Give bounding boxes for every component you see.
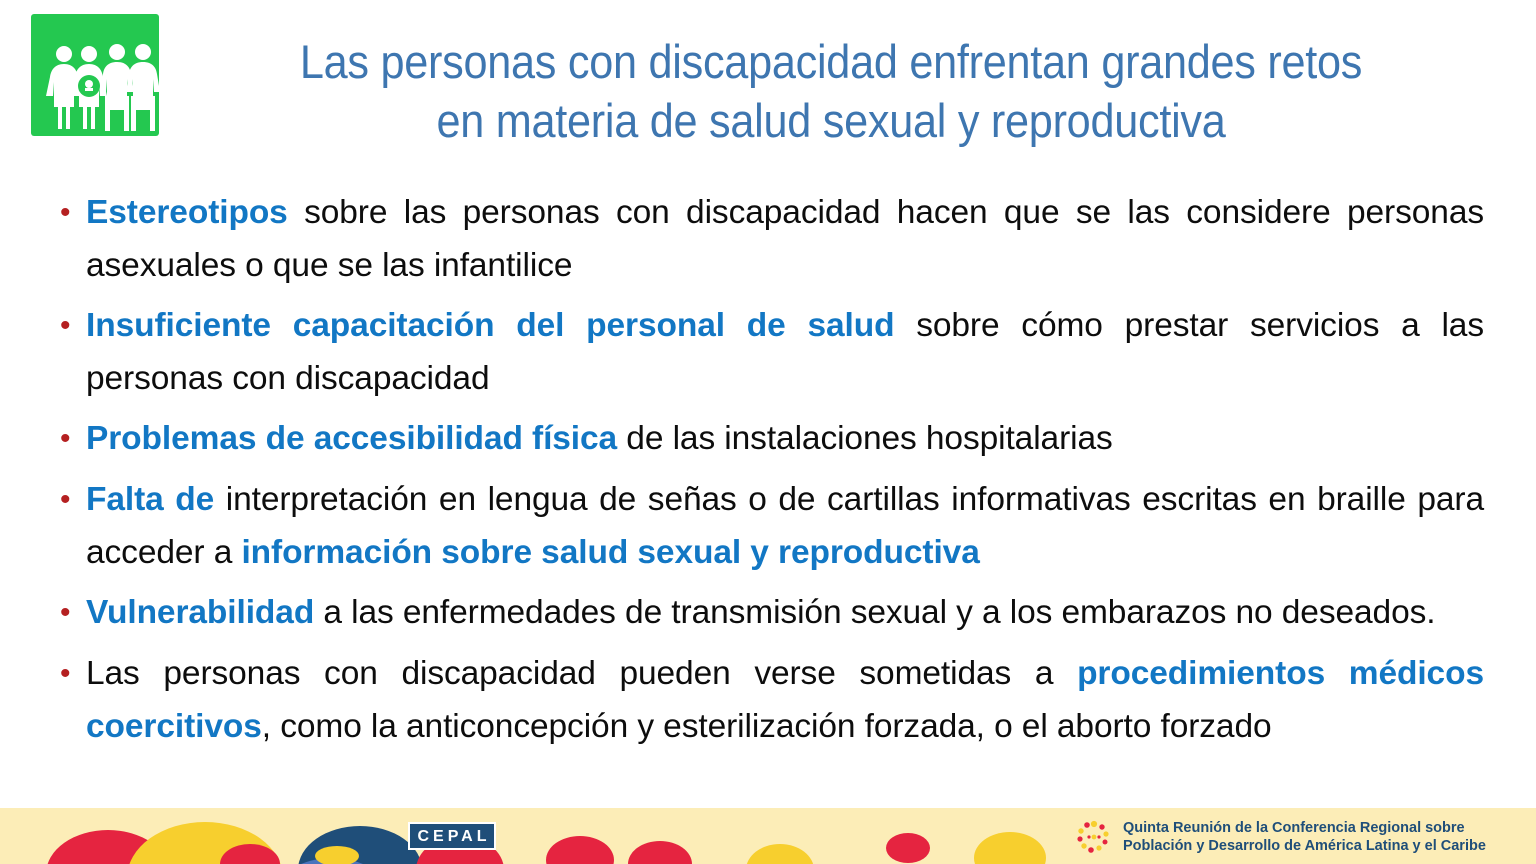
slide-title-line-1: Las personas con discapacidad enfrentan … bbox=[228, 32, 1433, 91]
bullet-highlight-text: información sobre salud sexual y reprodu… bbox=[241, 534, 979, 571]
bullet-plain-text: , como la anticoncepción y esterilizació… bbox=[262, 708, 1272, 745]
bullet-marker-icon: • bbox=[52, 186, 86, 240]
slide-header: Las personas con discapacidad enfrentan … bbox=[0, 0, 1536, 172]
slide-title-line-2: en materia de salud sexual y reproductiv… bbox=[228, 91, 1433, 150]
bullet-text: Vulnerabilidad a las enfermedades de tra… bbox=[86, 586, 1484, 639]
bullet-text: Las personas con discapacidad pueden ver… bbox=[86, 647, 1484, 753]
bullet-highlight-text: Insuficiente capacitación del personal d… bbox=[86, 307, 894, 344]
conference-emblem-icon bbox=[1073, 816, 1115, 858]
conference-title-line-1: Quinta Reunión de la Conferencia Regiona… bbox=[1123, 819, 1486, 837]
slide-title: Las personas con discapacidad enfrentan … bbox=[228, 32, 1433, 150]
cepal-logo: CEPAL bbox=[408, 822, 496, 850]
sdg-health-people-icon bbox=[31, 14, 159, 136]
bullet-marker-icon: • bbox=[52, 647, 86, 701]
bullet-plain-text: a las enfermedades de transmisión sexual… bbox=[314, 594, 1435, 631]
bullet-item: •Problemas de accesibilidad física de la… bbox=[52, 412, 1484, 466]
bullet-highlight-text: Vulnerabilidad bbox=[86, 594, 314, 631]
bullet-plain-text: Las personas con discapacidad pueden ver… bbox=[86, 655, 1077, 692]
conference-logo: Quinta Reunión de la Conferencia Regiona… bbox=[1073, 816, 1486, 858]
bullet-highlight-text: Falta de bbox=[86, 481, 214, 518]
bullet-marker-icon: • bbox=[52, 412, 86, 466]
bullet-marker-icon: • bbox=[52, 586, 86, 640]
bullet-item: •Las personas con discapacidad pueden ve… bbox=[52, 647, 1484, 753]
bullet-item: •Vulnerabilidad a las enfermedades de tr… bbox=[52, 586, 1484, 640]
conference-title: Quinta Reunión de la Conferencia Regiona… bbox=[1123, 819, 1486, 855]
conference-title-line-2: Población y Desarrollo de América Latina… bbox=[1123, 837, 1486, 855]
bullet-highlight-text: Estereotipos bbox=[86, 194, 288, 231]
bullet-plain-text: de las instalaciones hospitalarias bbox=[617, 420, 1113, 457]
bullet-text: Insuficiente capacitación del personal d… bbox=[86, 299, 1484, 405]
bullet-marker-icon: • bbox=[52, 473, 86, 527]
bullet-highlight-text: Problemas de accesibilidad física bbox=[86, 420, 617, 457]
bullet-item: •Falta de interpretación en lengua de se… bbox=[52, 473, 1484, 579]
slide-footer: CEPAL Quinta Reunión de la Conferencia R… bbox=[0, 808, 1536, 864]
bullet-text: Falta de interpretación en lengua de señ… bbox=[86, 473, 1484, 579]
bullet-text: Estereotipos sobre las personas con disc… bbox=[86, 186, 1484, 292]
bullet-item: •Insuficiente capacitación del personal … bbox=[52, 299, 1484, 405]
bullet-marker-icon: • bbox=[52, 299, 86, 353]
bullet-text: Problemas de accesibilidad física de las… bbox=[86, 412, 1484, 465]
bullet-list: •Estereotipos sobre las personas con dis… bbox=[52, 186, 1484, 760]
bullet-plain-text: sobre las personas con discapacidad hace… bbox=[86, 194, 1484, 284]
bullet-item: •Estereotipos sobre las personas con dis… bbox=[52, 186, 1484, 292]
